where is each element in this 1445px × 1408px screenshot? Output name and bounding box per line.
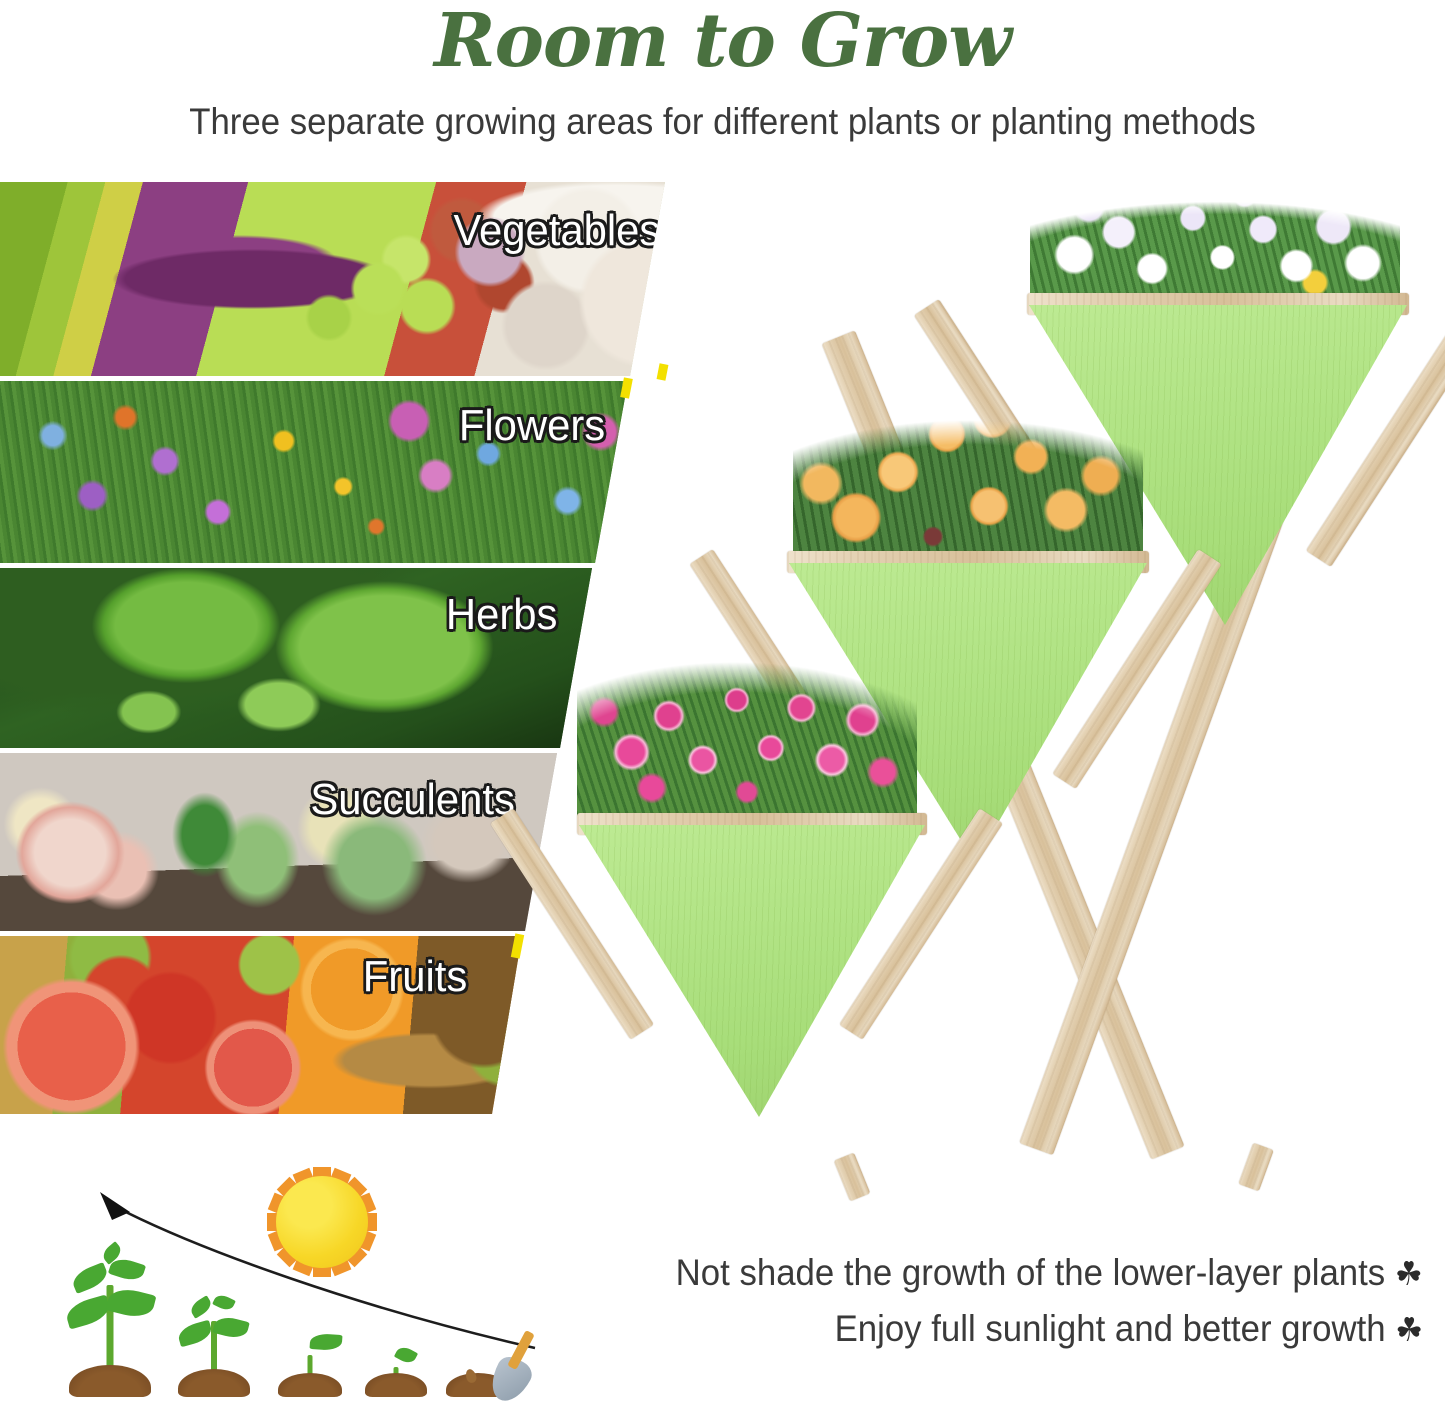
growth-stage-2 (360, 1346, 432, 1397)
clover-icon: ☘ (1395, 1311, 1423, 1348)
product-photo (555, 165, 1445, 1205)
collage-strip-fruits: Fruits (0, 936, 550, 1114)
bottom-planter-plants (577, 620, 917, 820)
collage-label-succulents: Succulents (310, 775, 514, 825)
collage-strip-herbs: Herbs (0, 568, 620, 748)
claim-line-1: Not shade the growth of the lower-layer … (676, 1252, 1423, 1294)
mixed-fruits-photo (0, 936, 550, 1114)
growth-stage-5 (62, 1252, 158, 1397)
growth-stage-4 (172, 1292, 256, 1397)
claim-text-1: Not shade the growth of the lower-layer … (676, 1252, 1386, 1293)
claim-line-2: Enjoy full sunlight and better growth ☘ (835, 1308, 1423, 1350)
page-subtitle: Three separate growing areas for differe… (43, 101, 1401, 143)
sun-core (276, 1176, 368, 1268)
bottom-infographic: Not shade the growth of the lower-layer … (0, 1140, 1445, 1397)
middle-planter-plants (793, 377, 1143, 567)
claim-text-2: Enjoy full sunlight and better growth (835, 1308, 1386, 1349)
sun-icon (262, 1162, 382, 1282)
collage-label-herbs: Herbs (446, 590, 558, 640)
top-planter-plants (1030, 165, 1400, 305)
collage-label-fruits: Fruits (363, 952, 468, 1002)
clover-icon: ☘ (1395, 1255, 1423, 1292)
collage-strip-succulents: Succulents (0, 753, 585, 931)
marketing-image: Room to Grow Three separate growing area… (0, 0, 1445, 1397)
growth-stage-1 (440, 1356, 516, 1397)
growth-stage-3 (272, 1332, 348, 1397)
page-title: Room to Grow (0, 0, 1445, 84)
